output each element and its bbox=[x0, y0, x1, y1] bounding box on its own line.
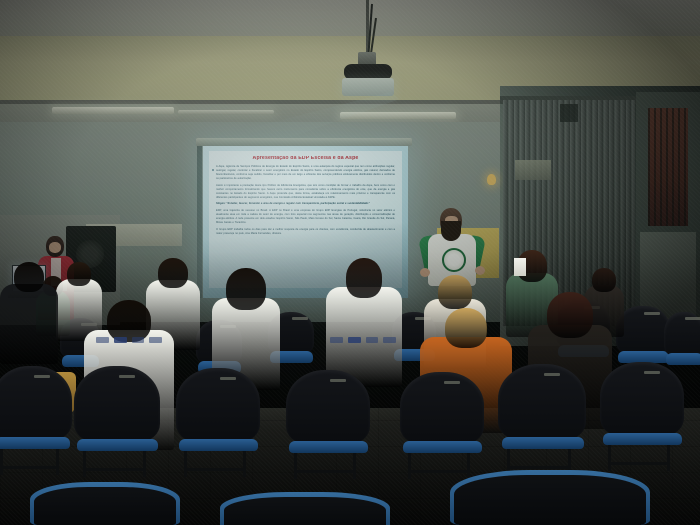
chair-leg bbox=[56, 449, 59, 475]
chair-label bbox=[644, 371, 660, 374]
chair-seat bbox=[179, 439, 258, 451]
chair-seat bbox=[403, 441, 482, 453]
audience-head bbox=[14, 262, 44, 292]
ceiling bbox=[0, 0, 700, 40]
chair-rail bbox=[184, 468, 244, 471]
audience-head bbox=[592, 268, 616, 292]
fluorescent-light-icon bbox=[52, 107, 174, 114]
slide-title: Apresentação da EDP Escelsa e da Aspe bbox=[216, 156, 395, 162]
chair-label bbox=[330, 379, 346, 382]
chair-seat bbox=[289, 441, 368, 453]
slide-bullet-icon bbox=[212, 169, 214, 171]
foreground-chair-pad bbox=[224, 497, 386, 525]
sponsor-logo-icon bbox=[96, 337, 109, 343]
shirt-logo-icon bbox=[442, 248, 466, 272]
shirt-sponsor-logos bbox=[96, 336, 162, 344]
audience-head bbox=[226, 268, 266, 310]
chair-leg bbox=[143, 451, 146, 477]
chair[interactable] bbox=[0, 366, 72, 474]
chair-label bbox=[119, 375, 135, 378]
conference-room-photo: Apresentação da EDP Escelsa e da Aspe A … bbox=[0, 0, 700, 525]
window-pane bbox=[515, 160, 551, 180]
blind-slat bbox=[626, 100, 631, 326]
chair[interactable] bbox=[498, 364, 586, 474]
chair[interactable] bbox=[600, 362, 684, 470]
presenter-hand bbox=[475, 266, 485, 275]
audience-head bbox=[445, 308, 487, 348]
chair-leg bbox=[184, 451, 187, 477]
slide-paragraph: Assim é importante a prestação deste tip… bbox=[216, 184, 395, 200]
chair-seat bbox=[77, 439, 158, 451]
screen-case bbox=[196, 138, 412, 146]
chair-label bbox=[644, 312, 660, 315]
chair-rail bbox=[83, 468, 145, 471]
held-paper-cup bbox=[514, 258, 526, 276]
chair[interactable] bbox=[74, 366, 160, 476]
sponsor-logo-icon bbox=[366, 337, 379, 343]
chair-back bbox=[498, 364, 586, 440]
audience-head bbox=[438, 275, 472, 309]
chair-label bbox=[685, 317, 700, 320]
sponsor-logo-icon bbox=[132, 337, 145, 343]
chair-leg bbox=[408, 453, 411, 479]
chair-label bbox=[544, 373, 560, 376]
sponsor-logo-icon bbox=[114, 337, 127, 343]
chair-leg bbox=[608, 445, 611, 471]
chair-label bbox=[34, 375, 50, 378]
chair-seat bbox=[502, 437, 585, 449]
chair-back bbox=[286, 370, 370, 444]
sponsor-logo-icon bbox=[149, 337, 162, 343]
fluorescent-light-icon bbox=[340, 112, 456, 119]
chair-label bbox=[444, 381, 460, 384]
chair-leg bbox=[294, 453, 297, 479]
blind-slat bbox=[632, 100, 635, 326]
chair[interactable] bbox=[400, 372, 484, 478]
chair-back bbox=[616, 306, 670, 354]
chair-seat bbox=[0, 437, 70, 449]
chair-label bbox=[220, 377, 236, 380]
chair-rail bbox=[294, 470, 354, 473]
fluorescent-light-icon bbox=[178, 110, 274, 114]
chair-back bbox=[400, 372, 484, 444]
sponsor-logo-icon bbox=[383, 337, 396, 343]
chair-back bbox=[600, 362, 684, 436]
presenter-beard bbox=[441, 221, 461, 241]
sponsor-logo-icon bbox=[330, 337, 343, 343]
chair-rail bbox=[507, 466, 570, 469]
audience-member bbox=[0, 262, 58, 372]
chair-rail bbox=[0, 466, 58, 469]
sponsor-logo-icon bbox=[348, 337, 361, 343]
door-bars bbox=[648, 108, 688, 226]
chair-rail bbox=[608, 462, 668, 465]
slide-paragraph: O Grupo EDP trabalha todos os dias para … bbox=[216, 228, 395, 236]
chair-leg bbox=[0, 449, 3, 475]
chair-leg bbox=[667, 445, 670, 471]
slide-paragraph-slogan: Slogan: "Estudar, buscar, fomentar a áre… bbox=[216, 202, 395, 206]
chair[interactable] bbox=[286, 370, 370, 478]
audience-head bbox=[547, 292, 593, 338]
foreground-chair-pad bbox=[454, 475, 646, 525]
slide-paragraph: A Aspe, Agência de Serviços Públicos de … bbox=[216, 165, 395, 181]
shirt-sponsor-logos bbox=[330, 336, 396, 344]
chair-label bbox=[292, 317, 308, 320]
chair-leg bbox=[353, 453, 356, 479]
audience-head bbox=[67, 262, 91, 286]
chair-seat bbox=[603, 433, 682, 445]
projector-icon[interactable] bbox=[342, 78, 394, 96]
chair-leg bbox=[83, 451, 86, 477]
assistant-face bbox=[49, 242, 61, 253]
slide-paragraph: EDP, uma trajetória de sucesso no Brasil… bbox=[216, 209, 395, 225]
wall-lamp-icon bbox=[487, 174, 496, 185]
audience-head bbox=[346, 258, 382, 298]
chair-leg bbox=[243, 451, 246, 477]
chair-rail bbox=[408, 470, 468, 473]
chair-back bbox=[176, 368, 260, 442]
audience-head bbox=[158, 258, 188, 288]
chair[interactable] bbox=[176, 368, 260, 476]
chair-back bbox=[74, 366, 160, 442]
chair-leg bbox=[467, 453, 470, 479]
foreground-chair-pad bbox=[34, 487, 176, 525]
audience-torso bbox=[0, 284, 58, 364]
blind-gap bbox=[560, 104, 578, 122]
